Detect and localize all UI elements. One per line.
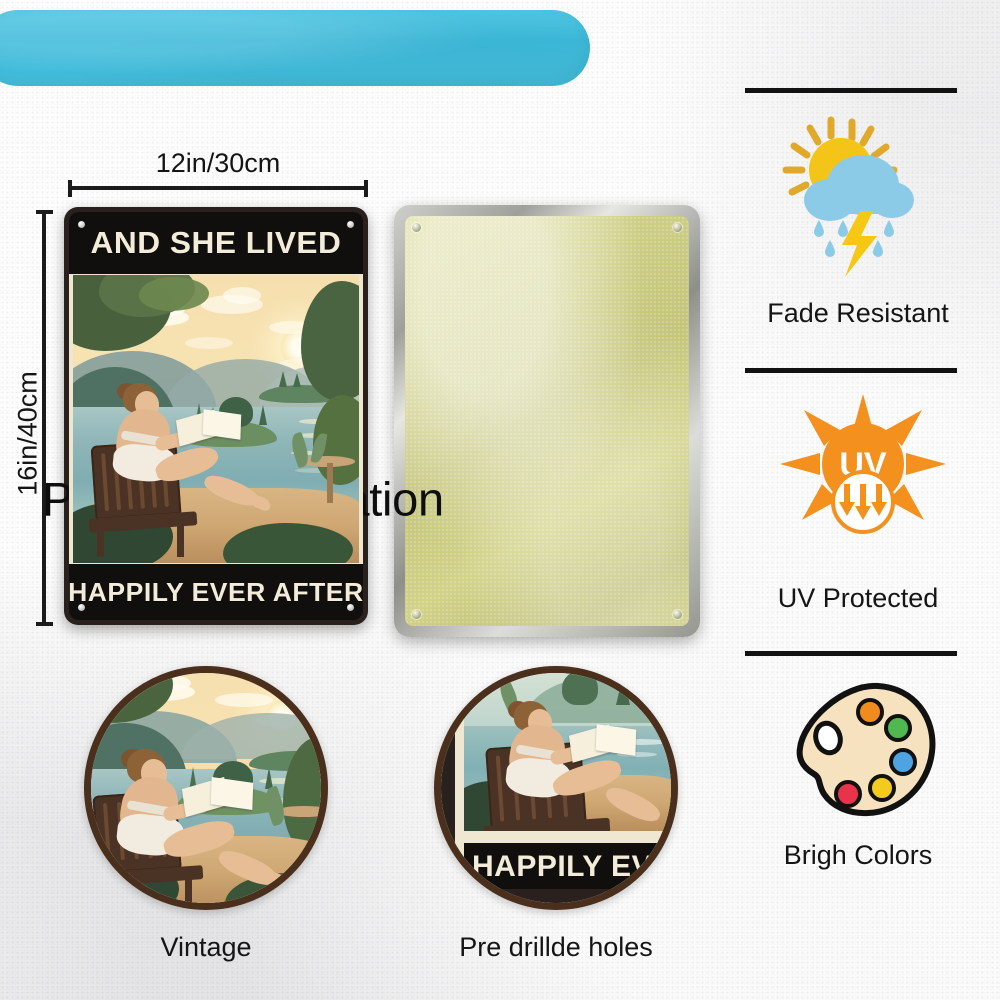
detail-bench-leg — [185, 877, 192, 909]
detail-cloud — [215, 693, 273, 707]
mounting-hole-icon — [78, 604, 85, 611]
feature-divider — [745, 88, 957, 93]
width-dimension-label: 12in/30cm — [68, 148, 368, 179]
detail-circle-vintage — [84, 666, 328, 910]
sign-top-banner: AND SHE LIVED — [69, 212, 363, 274]
mounting-hole-icon — [412, 610, 421, 619]
artwork-tree — [279, 371, 287, 387]
detail-artwork-vintage — [85, 667, 327, 909]
sign-bottom-text: HAPPILY EVER AFTER — [69, 577, 363, 608]
pre-drilled-hole-icon — [471, 891, 483, 903]
detail-tree — [562, 671, 598, 705]
back-plate-surface — [405, 216, 689, 626]
dimension-bar — [68, 186, 368, 190]
artwork-cloud — [223, 287, 261, 304]
artwork-book-right-page — [203, 409, 242, 439]
detail-banner-text: HAPPILY EVER — [472, 850, 677, 884]
sign-top-text: AND SHE LIVED — [91, 225, 342, 261]
uv-sun-arrows-icon: UV — [778, 392, 948, 552]
sign-artwork — [73, 275, 359, 563]
sun-cloud-rain-lightning-icon — [768, 112, 948, 292]
artwork-side-table-leg — [327, 463, 333, 503]
mounting-hole-icon — [347, 221, 354, 228]
sign-artwork-frame — [69, 270, 363, 568]
detail-sign-border-left — [455, 667, 464, 909]
detail-artwork-corner: HAPPILY EVER — [435, 667, 677, 909]
dimension-cap-right — [364, 180, 368, 197]
dimension-bar — [42, 210, 46, 626]
artwork-cloud — [185, 337, 233, 349]
detail-tree — [616, 675, 630, 705]
width-dimension-line — [68, 180, 368, 196]
detail-circle-pre-drilled-holes: HAPPILY EVER — [434, 666, 678, 910]
artwork-bench-leg — [97, 523, 104, 557]
dimension-cap-bottom — [36, 622, 53, 626]
feature-divider — [745, 368, 957, 373]
artwork-tree — [293, 373, 301, 387]
mounting-hole-icon — [673, 610, 682, 619]
feature-label-brigh-colors: Brigh Colors — [728, 840, 988, 871]
feature-label-uv-protected: UV Protected — [728, 583, 988, 614]
detail-sign-banner: HAPPILY EVER — [464, 843, 677, 891]
product-back-plate — [394, 205, 700, 637]
detail-book-right — [596, 724, 637, 756]
mounting-hole-icon — [78, 221, 85, 228]
sign-face: AND SHE LIVED HAPPILY EVER AFTER — [69, 212, 363, 620]
artwork-tree — [259, 405, 267, 425]
feature-divider — [745, 651, 957, 656]
detail-caption-vintage: Vintage — [84, 932, 328, 963]
mounting-hole-icon — [412, 223, 421, 232]
sign-bottom-banner: HAPPILY EVER AFTER — [69, 564, 363, 620]
product-front-sign: AND SHE LIVED HAPPILY EVER AFTER — [64, 207, 368, 625]
artwork-bench-leg — [177, 523, 184, 557]
height-dimension-line — [36, 210, 53, 626]
detail-book-right — [211, 777, 254, 810]
feature-label-fade-resistant: Fade Resistant — [728, 298, 988, 329]
detail-caption-pre-drilled-holes: Pre drillde holes — [414, 932, 698, 963]
mounting-hole-icon — [347, 604, 354, 611]
header-banner — [0, 10, 590, 86]
detail-artwork-crop — [464, 667, 677, 831]
paint-palette-icon — [790, 680, 940, 820]
artwork-bench-slat — [101, 453, 109, 511]
mounting-hole-icon — [673, 223, 682, 232]
